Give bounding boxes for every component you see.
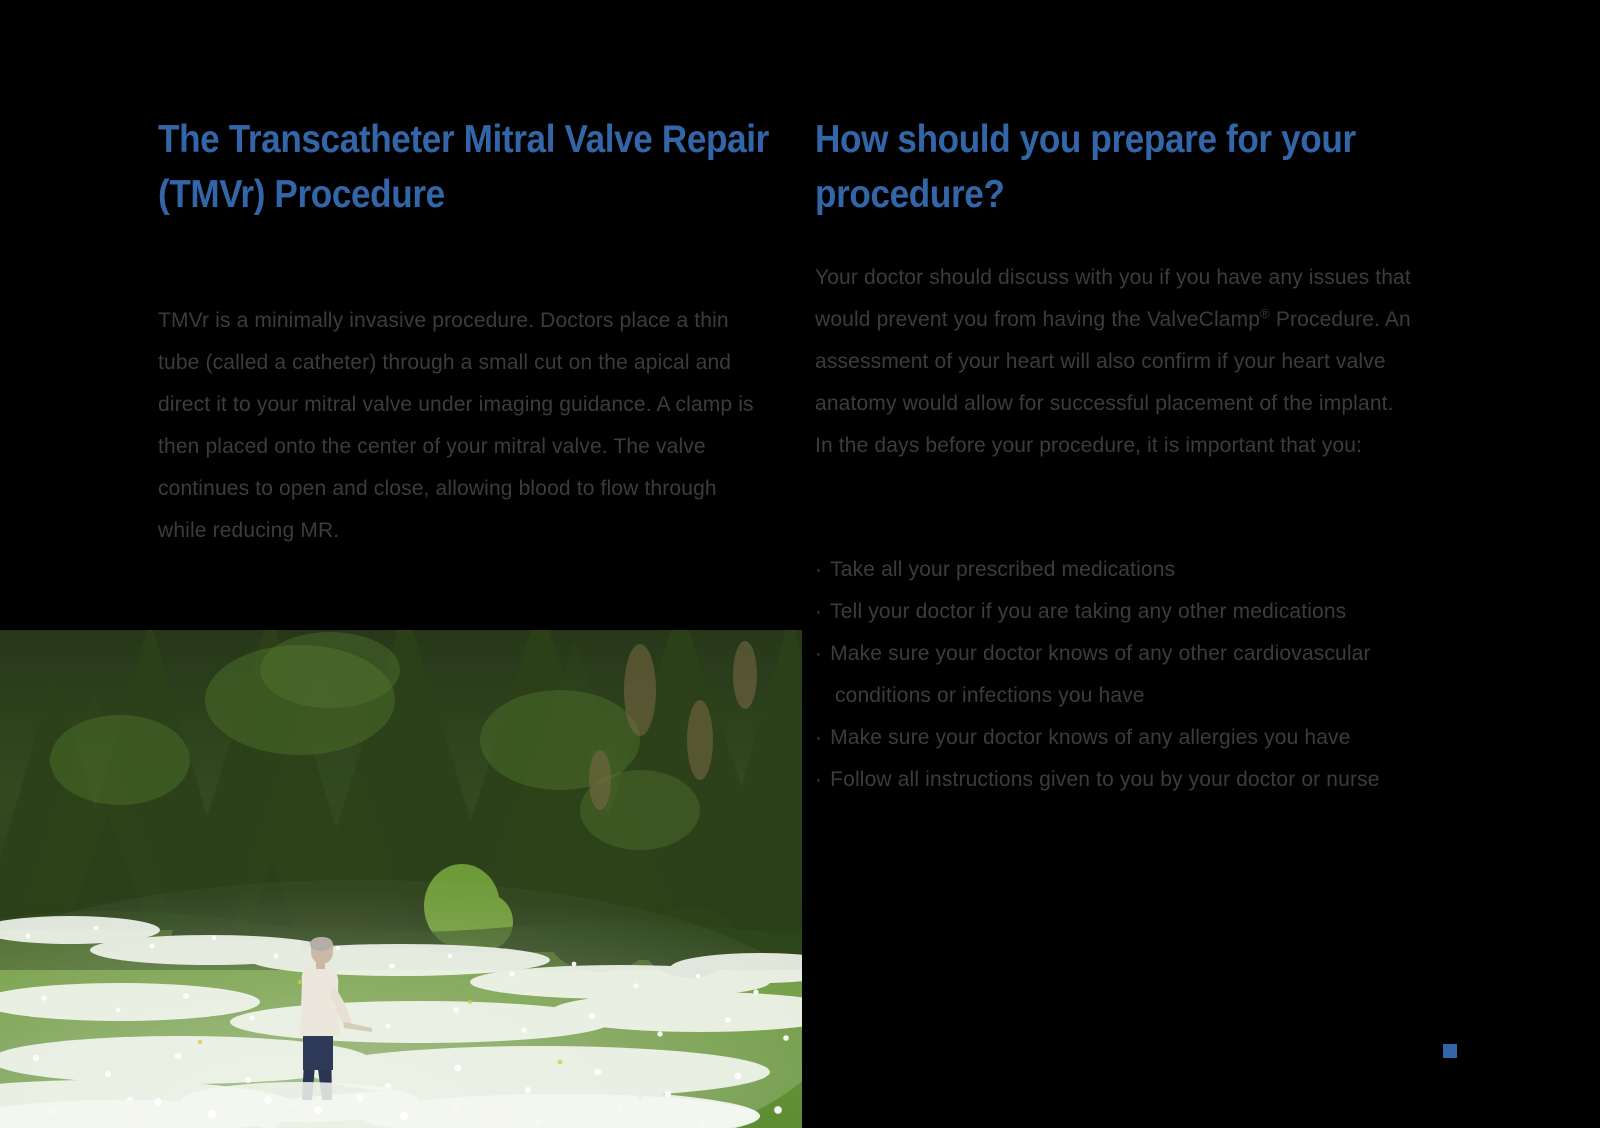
right-column-heading: How should you prepare for your procedur… bbox=[815, 112, 1427, 222]
meadow-photograph bbox=[0, 630, 802, 1128]
bullet-dot-icon: · bbox=[815, 558, 830, 581]
list-item: ·Make sure your doctor knows of any othe… bbox=[815, 633, 1430, 717]
brochure-page: The Transcatheter Mitral Valve Repair (T… bbox=[0, 0, 1600, 1128]
preparation-checklist: ·Take all your prescribed medications ·T… bbox=[815, 549, 1430, 801]
left-column-body-text: TMVr is a minimally invasive procedure. … bbox=[158, 300, 763, 552]
list-item: ·Follow all instructions given to you by… bbox=[815, 759, 1430, 801]
meadow-photograph-illustration bbox=[0, 630, 802, 1128]
list-item: ·Take all your prescribed medications bbox=[815, 549, 1430, 591]
left-column-heading: The Transcatheter Mitral Valve Repair (T… bbox=[158, 112, 770, 222]
list-item: ·Tell your doctor if you are taking any … bbox=[815, 591, 1430, 633]
list-item-label: Make sure your doctor knows of any other… bbox=[830, 642, 1371, 707]
bullet-dot-icon: · bbox=[815, 600, 830, 623]
list-item-label: Follow all instructions given to you by … bbox=[830, 768, 1379, 791]
list-item-label: Tell your doctor if you are taking any o… bbox=[830, 600, 1346, 623]
list-item-label: Make sure your doctor knows of any aller… bbox=[830, 726, 1350, 749]
list-item: ·Make sure your doctor knows of any alle… bbox=[815, 717, 1430, 759]
registered-trademark-symbol: ® bbox=[1260, 306, 1270, 321]
bullet-dot-icon: · bbox=[815, 768, 830, 791]
bullet-dot-icon: · bbox=[815, 642, 830, 665]
right-column-body-text: Your doctor should discuss with you if y… bbox=[815, 257, 1430, 467]
list-item-label: Take all your prescribed medications bbox=[830, 558, 1175, 581]
bullet-dot-icon: · bbox=[815, 726, 830, 749]
page-marker-square bbox=[1443, 1044, 1457, 1058]
